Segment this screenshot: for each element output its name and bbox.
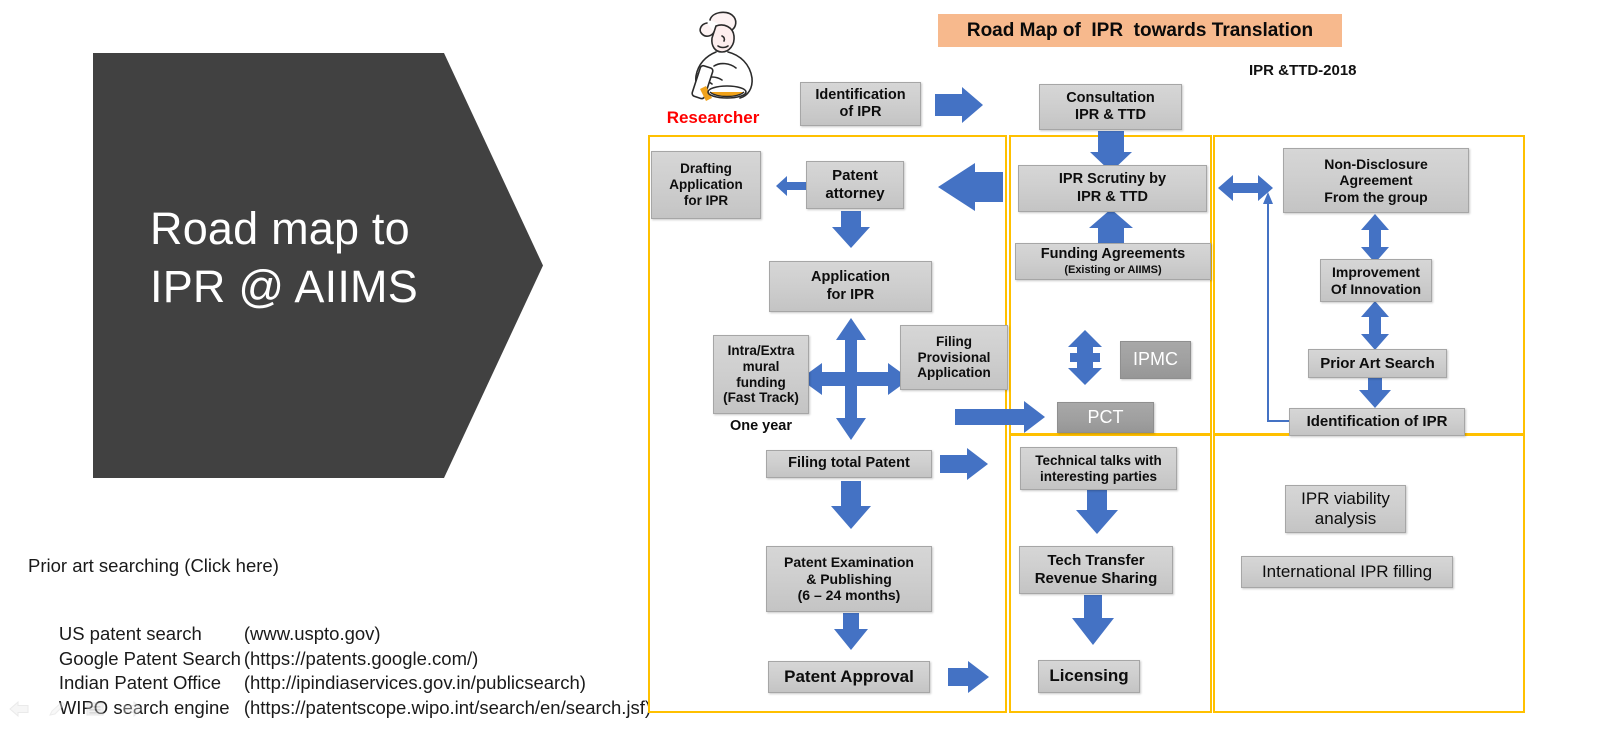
list-item[interactable]: US patent search(www.uspto.gov) xyxy=(28,601,651,626)
box-filing-total-patent[interactable]: Filing total Patent xyxy=(766,450,932,478)
back-arrow-icon[interactable] xyxy=(8,700,30,723)
box-patent-approval[interactable]: Patent Approval xyxy=(768,661,930,693)
patent-search-link-list: US patent search(www.uspto.gov) Google P… xyxy=(28,601,651,699)
box-drafting-application[interactable]: Drafting Application for IPR xyxy=(651,151,761,219)
box-label: International IPR filling xyxy=(1262,562,1432,582)
box-international-ipr-filling[interactable]: International IPR filling xyxy=(1241,556,1453,588)
researcher-illustration-icon xyxy=(676,6,760,110)
box-label: Improvement Of Innovation xyxy=(1331,264,1421,297)
box-application-for-ipr[interactable]: Application for IPR xyxy=(769,261,932,312)
box-label: Intra/Extra mural funding (Fast Track) xyxy=(723,343,799,407)
label-one-year: One year xyxy=(713,418,809,434)
mini-toolbar xyxy=(8,700,144,723)
box-patent-attorney[interactable]: Patent attorney xyxy=(806,161,904,209)
box-identification-of-ipr-right[interactable]: Identification of IPR xyxy=(1289,408,1465,436)
box-label: PCT xyxy=(1088,407,1124,428)
box-label: Tech Transfer Revenue Sharing xyxy=(1035,552,1158,587)
box-technical-talks[interactable]: Technical talks with interesting parties xyxy=(1020,447,1177,490)
page-title-line-1: Road map to xyxy=(150,200,530,258)
box-identification-of-ipr-top[interactable]: Identification of IPR xyxy=(800,82,921,126)
link-name: Indian Patent Office xyxy=(59,672,244,694)
pen-icon[interactable] xyxy=(46,700,68,723)
link-url[interactable]: (http://ipindiaservices.gov.in/publicsea… xyxy=(244,672,586,693)
page-title: Road map to IPR @ AIIMS xyxy=(150,200,530,315)
box-ipmc[interactable]: IPMC xyxy=(1120,341,1191,379)
box-label: IPMC xyxy=(1133,349,1178,370)
box-label: Patent Approval xyxy=(784,667,914,687)
link-url[interactable]: (www.uspto.gov) xyxy=(244,623,381,644)
box-intra-extra-mural-funding[interactable]: Intra/Extra mural funding (Fast Track) xyxy=(713,335,809,414)
box-label: IPR viability analysis xyxy=(1301,489,1390,529)
diagram-subtitle: IPR &TTD-2018 xyxy=(1249,62,1357,79)
box-pct[interactable]: PCT xyxy=(1057,402,1154,433)
box-label: Licensing xyxy=(1049,666,1128,686)
box-tech-transfer-revenue-sharing[interactable]: Tech Transfer Revenue Sharing xyxy=(1019,546,1173,594)
link-name: US patent search xyxy=(59,623,244,645)
box-label: Identification of IPR xyxy=(1307,413,1448,431)
box-licensing[interactable]: Licensing xyxy=(1038,660,1140,693)
box-patent-examination[interactable]: Patent Examination & Publishing (6 – 24 … xyxy=(766,546,932,612)
slide-canvas: Road map to IPR @ AIIMS Prior art search… xyxy=(0,0,1600,746)
box-improvement-of-innovation[interactable]: Improvement Of Innovation xyxy=(1320,259,1432,302)
box-label: Patent Examination & Publishing (6 – 24 … xyxy=(784,554,914,604)
box-label-primary: Funding Agreements xyxy=(1041,246,1185,263)
box-label: Technical talks with interesting parties xyxy=(1035,453,1162,485)
box-label: Identification of IPR xyxy=(815,87,905,121)
box-filing-provisional-application[interactable]: Filing Provisional Application xyxy=(900,325,1008,390)
box-prior-art-search[interactable]: Prior Art Search xyxy=(1308,349,1447,378)
box-consultation[interactable]: Consultation IPR & TTD xyxy=(1039,84,1182,130)
box-label: Application for IPR xyxy=(811,269,890,303)
forward-arrow-icon[interactable] xyxy=(122,700,144,723)
prior-art-heading[interactable]: Prior art searching (Click here) xyxy=(28,555,279,577)
box-label: Filing total Patent xyxy=(788,455,910,472)
box-label: Consultation IPR & TTD xyxy=(1066,90,1155,124)
box-ipr-viability-analysis[interactable]: IPR viability analysis xyxy=(1285,485,1406,533)
box-label: Filing Provisional Application xyxy=(917,334,991,382)
researcher-label: Researcher xyxy=(663,108,763,128)
box-label: Drafting Application for IPR xyxy=(669,161,743,209)
box-label-secondary: (Existing or AIIMS) xyxy=(1064,264,1161,277)
link-url[interactable]: (https://patents.google.com/) xyxy=(244,648,478,669)
box-label: Patent attorney xyxy=(825,167,884,202)
frame-left-column xyxy=(648,135,1007,713)
box-label: IPR Scrutiny by IPR & TTD xyxy=(1059,171,1166,205)
link-name: Google Patent Search xyxy=(59,648,244,670)
box-ipr-scrutiny[interactable]: IPR Scrutiny by IPR & TTD xyxy=(1018,165,1207,212)
link-url[interactable]: (https://patentscope.wipo.int/search/en/… xyxy=(244,697,651,718)
arrow-right-identification-to-consultation xyxy=(935,87,983,123)
box-label: Prior Art Search xyxy=(1320,355,1435,373)
page-title-line-2: IPR @ AIIMS xyxy=(150,258,530,316)
list-icon[interactable] xyxy=(84,700,106,723)
diagram-banner: Road Map of IPR towards Translation xyxy=(938,14,1342,47)
box-label: Non-Disclosure Agreement From the group xyxy=(1324,156,1427,206)
box-non-disclosure-agreement[interactable]: Non-Disclosure Agreement From the group xyxy=(1283,148,1469,213)
box-funding-agreements[interactable]: Funding Agreements (Existing or AIIMS) xyxy=(1015,243,1211,280)
